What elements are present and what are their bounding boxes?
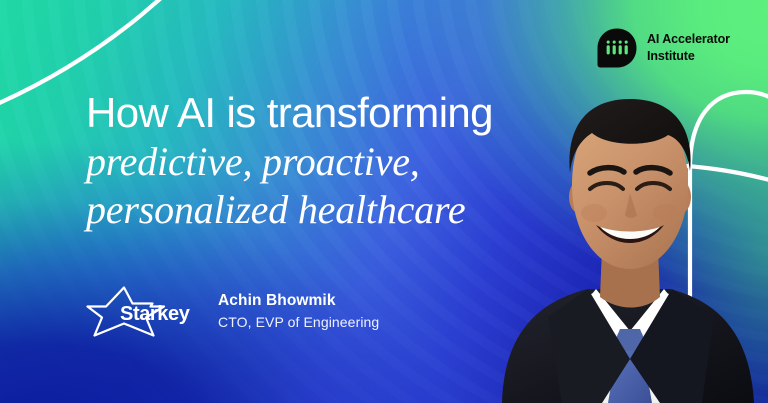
speaker-info: Achin Bhowmik CTO, EVP of Engineering	[218, 291, 379, 333]
aiai-speech-bubble-logo-icon	[596, 27, 638, 69]
speaker-name: Achin Bhowmik	[218, 291, 379, 312]
headline: How AI is transforming predictive, proac…	[86, 88, 586, 234]
headline-line-1: How AI is transforming	[86, 88, 586, 138]
aiai-logo-wordmark: AI Accelerator Institute	[647, 31, 730, 66]
promo-banner: AI Accelerator Institute How AI is trans…	[0, 0, 768, 403]
starkey-wordmark: Starkey	[120, 303, 190, 325]
starkey-trademark-dot	[184, 317, 187, 320]
speaker-role: CTO, EVP of Engineering	[218, 313, 379, 333]
headline-line-3: personalized healthcare	[86, 186, 586, 234]
footer-speaker-row: Starkey Achin Bhowmik CTO, EVP of Engine…	[86, 286, 379, 338]
headline-line-2: predictive, proactive,	[86, 138, 586, 186]
starkey-star-logo-icon: Starkey	[86, 286, 190, 338]
aiai-logo-block: AI Accelerator Institute	[596, 27, 730, 69]
